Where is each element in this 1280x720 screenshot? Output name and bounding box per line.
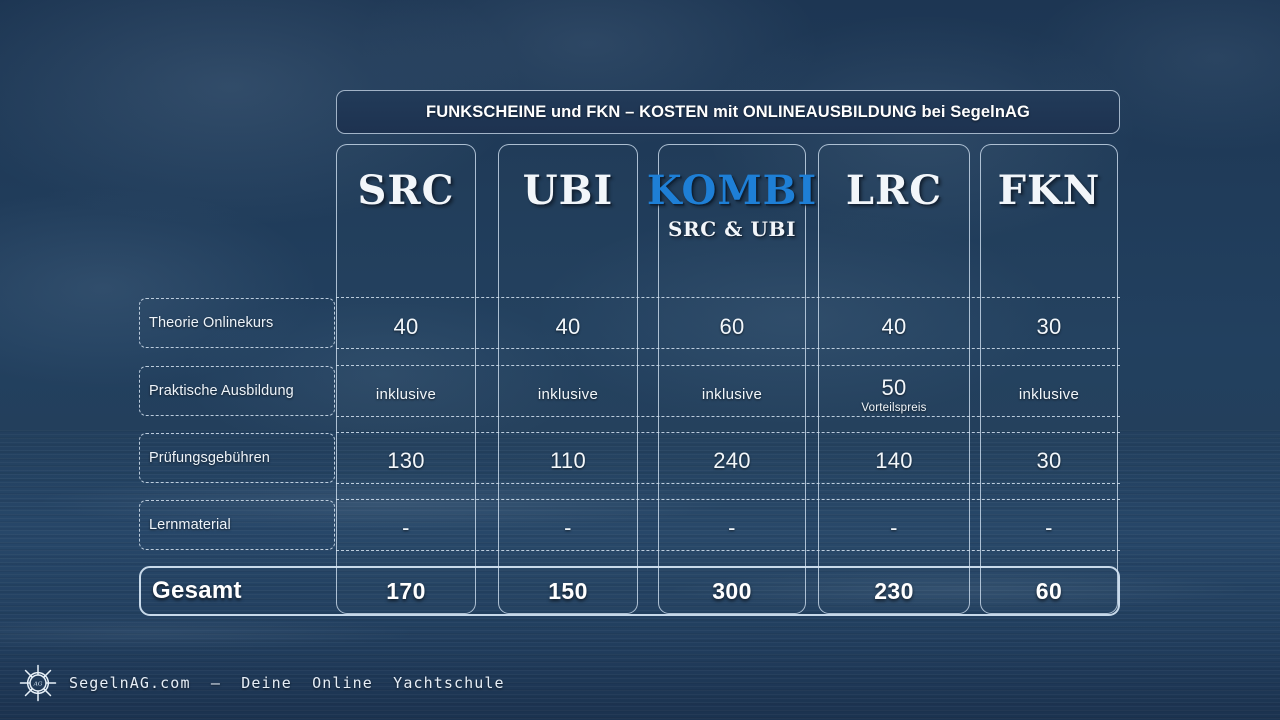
table-cell: 30 xyxy=(980,436,1118,486)
table-cell: - xyxy=(818,503,970,553)
total-row-label: Gesamt xyxy=(152,566,242,616)
slide-canvas: FUNKSCHEINE und FKN – KOSTEN mit ONLINEA… xyxy=(0,0,1280,720)
table-cell: - xyxy=(658,503,806,553)
cell-value: 40 xyxy=(881,314,906,340)
total-cell: 300 xyxy=(658,566,806,616)
table-cell: - xyxy=(980,503,1118,553)
column-title: KOMBI xyxy=(647,171,817,211)
cell-note: Vorteilspreis xyxy=(861,402,926,414)
cell-value: 140 xyxy=(875,448,913,474)
cell-value: 30 xyxy=(1036,448,1061,474)
cell-value: - xyxy=(564,515,572,541)
cell-value: - xyxy=(402,515,410,541)
table-cell: 40 xyxy=(498,302,638,352)
cell-value: inklusive xyxy=(376,386,436,403)
row-separator xyxy=(336,297,1120,298)
cell-value: - xyxy=(728,515,736,541)
table-cell: inklusive xyxy=(336,369,476,419)
table-cell: - xyxy=(498,503,638,553)
table-cell: 40 xyxy=(818,302,970,352)
footer-text: SegelnAG.com – Deine Online Yachtschule xyxy=(69,674,505,692)
table-cell-highlight: 50 Vorteilspreis xyxy=(818,369,970,419)
row-label-theorie-onlinekurs: Theorie Onlinekurs xyxy=(139,298,335,348)
column-header-src: SRC xyxy=(337,145,475,291)
price-comparison-table: FUNKSCHEINE und FKN – KOSTEN mit ONLINEA… xyxy=(0,0,1280,720)
column-header-fkn: FKN xyxy=(981,145,1117,291)
cell-value: 60 xyxy=(719,314,744,340)
table-cell: 240 xyxy=(658,436,806,486)
footer-branding: AG SegelnAG.com – Deine Online Yachtschu… xyxy=(18,663,505,703)
cell-value: 130 xyxy=(387,448,425,474)
total-cell: 170 xyxy=(336,566,476,616)
table-cell: 40 xyxy=(336,302,476,352)
table-cell: inklusive xyxy=(980,369,1118,419)
cell-value: 40 xyxy=(393,314,418,340)
cell-value: 240 xyxy=(713,448,751,474)
cell-value: inklusive xyxy=(538,386,598,403)
row-separator xyxy=(336,499,1120,500)
row-label-lernmaterial: Lernmaterial xyxy=(139,500,335,550)
cell-value: 110 xyxy=(550,448,586,474)
svg-text:AG: AG xyxy=(33,682,43,688)
column-header-ubi: UBI xyxy=(499,145,637,291)
cell-value: 40 xyxy=(555,314,580,340)
cell-value: 30 xyxy=(1036,314,1061,340)
cell-value: inklusive xyxy=(702,386,762,403)
total-cell: 230 xyxy=(818,566,970,616)
column-title: SRC xyxy=(358,171,455,211)
row-label-praktische-ausbildung: Praktische Ausbildung xyxy=(139,366,335,416)
column-title: LRC xyxy=(846,171,942,211)
ships-wheel-icon: AG xyxy=(18,663,58,703)
column-header-lrc: LRC xyxy=(819,145,969,291)
column-subtitle: SRC & UBI xyxy=(668,217,796,241)
table-cell: inklusive xyxy=(658,369,806,419)
table-cell: 110 xyxy=(498,436,638,486)
total-cell: 60 xyxy=(980,566,1118,616)
column-header-kombi: KOMBI SRC & UBI xyxy=(659,145,805,291)
table-title: FUNKSCHEINE und FKN – KOSTEN mit ONLINEA… xyxy=(336,90,1120,134)
row-label-pruefungsgebuehren: Prüfungsgebühren xyxy=(139,433,335,483)
total-cell: 150 xyxy=(498,566,638,616)
column-title: FKN xyxy=(998,171,1101,211)
table-cell: 30 xyxy=(980,302,1118,352)
row-separator xyxy=(336,365,1120,366)
table-cell: - xyxy=(336,503,476,553)
row-separator xyxy=(336,432,1120,433)
cell-value: - xyxy=(1045,515,1053,541)
cell-value: - xyxy=(890,515,898,541)
table-cell: 140 xyxy=(818,436,970,486)
table-cell: 130 xyxy=(336,436,476,486)
column-title: UBI xyxy=(523,171,613,211)
cell-value: 50 xyxy=(881,375,906,401)
table-cell: inklusive xyxy=(498,369,638,419)
table-cell: 60 xyxy=(658,302,806,352)
cell-value: inklusive xyxy=(1019,386,1079,403)
